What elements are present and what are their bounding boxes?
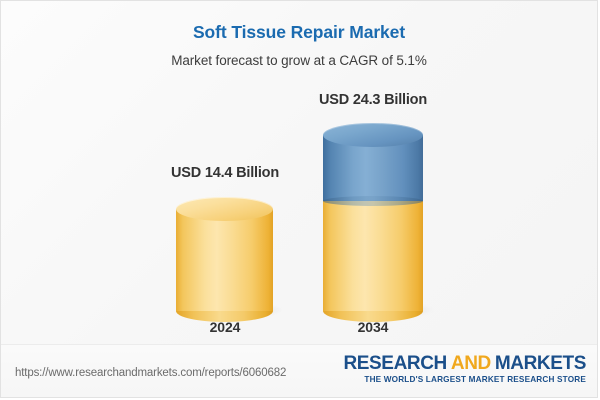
value-label-2024: USD 14.4 Billion [125, 165, 325, 181]
footer: https://www.researchandmarkets.com/repor… [1, 344, 598, 397]
cylinder-top-cap-2024 [176, 197, 273, 221]
bar-segment-base-2034 [323, 201, 423, 311]
chart-card: Soft Tissue Repair Market Market forecas… [0, 0, 598, 398]
bar-2034 [323, 123, 423, 311]
logo-word-markets: MARKETS [495, 353, 586, 374]
bar-segment-base-2024 [176, 209, 273, 311]
category-label-2034: 2034 [273, 319, 473, 335]
report-url-link[interactable]: https://www.researchandmarkets.com/repor… [15, 367, 286, 379]
logo-word-research: RESEARCH [343, 353, 446, 374]
bar-2024 [176, 197, 273, 311]
logo-tagline: THE WORLD'S LARGEST MARKET RESEARCH STOR… [343, 375, 586, 384]
research-and-markets-logo[interactable]: RESEARCHANDMARKETS THE WORLD'S LARGEST M… [343, 354, 586, 384]
logo-word-and: AND [451, 353, 491, 374]
chart-plot-area: USD 14.4 Billion 2024 USD 24.3 Billion [1, 1, 598, 346]
cylinder-top-cap-2034 [323, 123, 423, 147]
segment-seam [323, 196, 423, 206]
value-label-2034: USD 24.3 Billion [273, 92, 473, 108]
logo-wordmark: RESEARCHANDMARKETS [343, 354, 586, 374]
